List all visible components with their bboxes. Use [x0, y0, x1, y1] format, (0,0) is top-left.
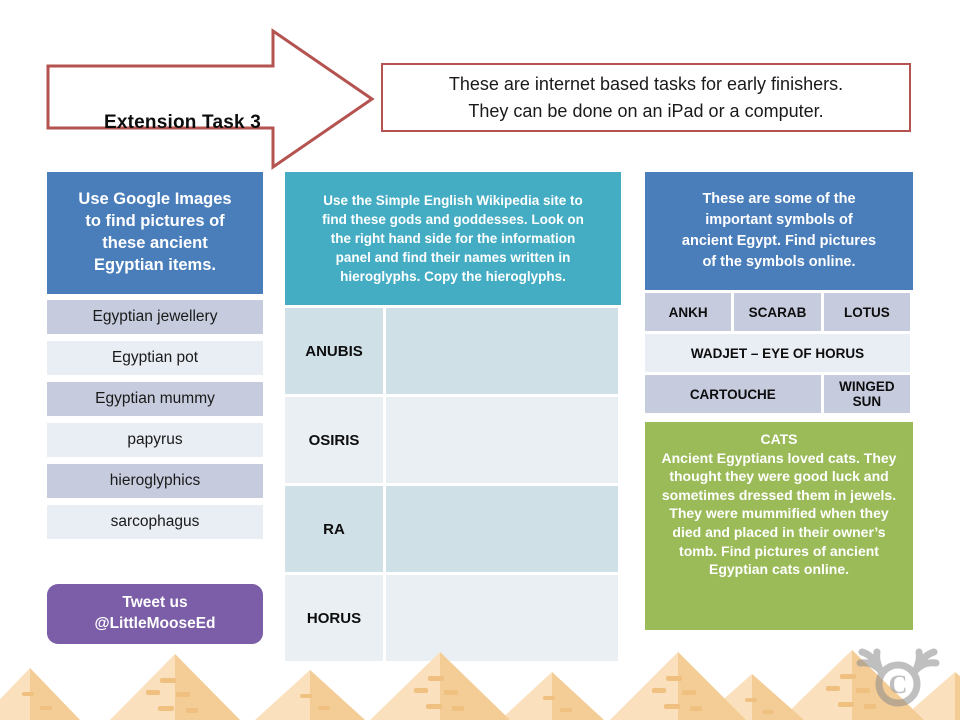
list-item: hieroglyphics: [47, 464, 263, 498]
symbol-cell: ANKH: [645, 293, 734, 334]
wikipedia-header-line-1: Use the Simple English Wikipedia site to: [323, 191, 582, 210]
symbols-header-line-4: of the symbols online.: [702, 252, 855, 273]
god-hieroglyph-cell[interactable]: [386, 397, 621, 486]
intro-line-2: They can be done on an iPad or a compute…: [468, 98, 823, 124]
gods-table: ANUBIS OSIRIS RA HORUS: [285, 308, 621, 664]
page-title: Extension Task 3: [45, 93, 320, 153]
list-item: sarcophagus: [47, 505, 263, 539]
symbols-table: ANKH SCARAB LOTUS WADJET – EYE OF HORUS …: [645, 293, 913, 416]
wikipedia-header-line-4: panel and find their names written in: [336, 248, 571, 267]
tweet-handle: @LittleMooseEd: [94, 614, 215, 635]
svg-text:C: C: [889, 670, 908, 699]
google-images-header-line-2: to find pictures of: [85, 211, 224, 233]
symbol-cell: CARTOUCHE: [645, 375, 824, 416]
google-images-header-line-1: Use Google Images: [78, 189, 231, 211]
google-images-header-line-4: Egyptian items.: [94, 255, 216, 277]
list-item: Egyptian mummy: [47, 382, 263, 416]
list-item: Egyptian jewellery: [47, 300, 263, 334]
symbols-header-line-3: ancient Egypt. Find pictures: [682, 231, 876, 252]
egyptian-items-list: Egyptian jewellery Egyptian pot Egyptian…: [47, 300, 263, 539]
symbol-cell: WINGED SUN: [824, 375, 913, 416]
table-row: OSIRIS: [285, 397, 621, 486]
intro-info-box: These are internet based tasks for early…: [381, 63, 911, 132]
table-row: WADJET – EYE OF HORUS: [645, 334, 913, 375]
pyramids-icon: [0, 644, 960, 720]
list-item: papyrus: [47, 423, 263, 457]
god-name-cell: ANUBIS: [285, 308, 386, 397]
wikipedia-gods-column: Use the Simple English Wikipedia site to…: [285, 172, 621, 664]
extension-task-arrow: Extension Task 3: [45, 28, 375, 170]
tweet-label: Tweet us: [122, 593, 187, 614]
google-images-column: Use Google Images to find pictures of th…: [47, 172, 263, 546]
google-images-header: Use Google Images to find pictures of th…: [47, 172, 263, 294]
symbols-header: These are some of the important symbols …: [645, 172, 913, 290]
wikipedia-header-line-3: the right hand side for the information: [331, 229, 576, 248]
table-row: ANUBIS: [285, 308, 621, 397]
table-row: RA: [285, 486, 621, 575]
table-row: CARTOUCHE WINGED SUN: [645, 375, 913, 416]
god-name-cell: RA: [285, 486, 386, 575]
table-row: ANKH SCARAB LOTUS: [645, 293, 913, 334]
symbol-cell: LOTUS: [824, 293, 913, 334]
cats-body: Ancient Egyptians loved cats. They thoug…: [655, 449, 903, 579]
wikipedia-header-line-5: hieroglyphs. Copy the hieroglyphs.: [340, 267, 566, 286]
god-hieroglyph-cell[interactable]: [386, 486, 621, 575]
symbols-header-line-1: These are some of the: [702, 189, 855, 210]
cats-title: CATS: [655, 430, 903, 449]
list-item: Egyptian pot: [47, 341, 263, 375]
god-hieroglyph-cell[interactable]: [386, 308, 621, 397]
intro-line-1: These are internet based tasks for early…: [449, 71, 843, 97]
moose-copyright-logo-icon: C: [850, 644, 946, 712]
tweet-us-box[interactable]: Tweet us @LittleMooseEd: [47, 584, 263, 644]
symbol-cell: SCARAB: [734, 293, 823, 334]
god-name-cell: OSIRIS: [285, 397, 386, 486]
symbols-column: These are some of the important symbols …: [645, 172, 913, 630]
symbol-cell: WADJET – EYE OF HORUS: [645, 334, 913, 375]
moose-antlers-copyright-icon: C: [850, 644, 946, 712]
cats-fact-box: CATS Ancient Egyptians loved cats. They …: [645, 422, 913, 630]
wikipedia-header: Use the Simple English Wikipedia site to…: [285, 172, 621, 305]
symbols-header-line-2: important symbols of: [705, 210, 852, 231]
google-images-header-line-3: these ancient: [102, 233, 207, 255]
wikipedia-header-line-2: find these gods and goddesses. Look on: [322, 210, 584, 229]
pyramid-footer-decoration: [0, 644, 960, 720]
